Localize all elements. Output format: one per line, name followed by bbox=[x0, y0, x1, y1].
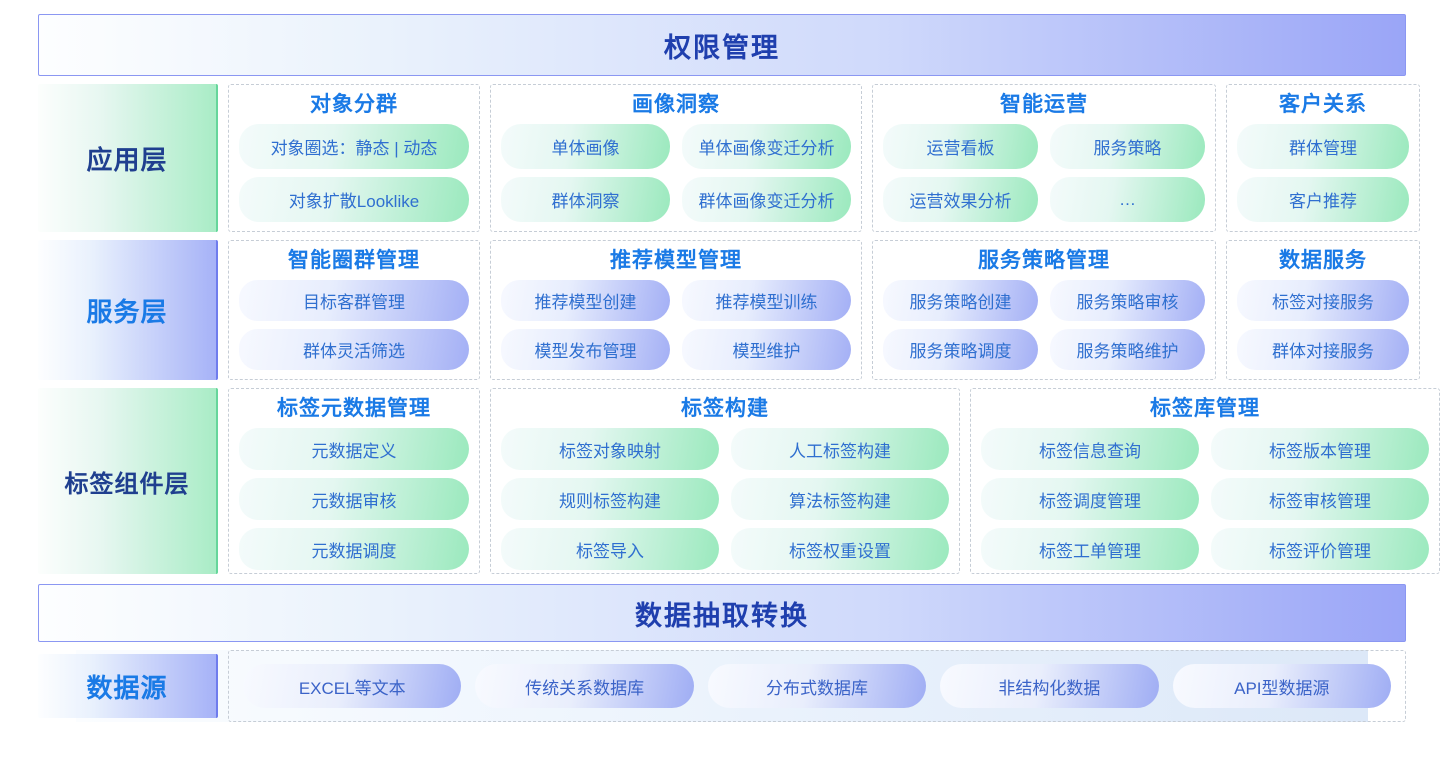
group-data-service: 数据服务 标签对接服务 群体对接服务 bbox=[1226, 240, 1420, 380]
group-portrait-insight: 画像洞察 单体画像 单体画像变迁分析 群体洞察 群体画像变迁分析 bbox=[490, 84, 862, 232]
group-tag-library-management: 标签库管理 标签信息查询 标签版本管理 标签调度管理 标签审核管理 标签工单管理… bbox=[970, 388, 1440, 574]
group-title: 智能圈群管理 bbox=[239, 247, 469, 275]
layer-row-application: 应用层 对象分群 对象圈选：静态 | 动态 对象扩散Looklike 画像洞察 … bbox=[38, 84, 1406, 232]
pill-item[interactable]: 标签工单管理 bbox=[981, 528, 1199, 570]
datasource-item[interactable]: EXCEL等文本 bbox=[243, 664, 461, 708]
pill-grid: 服务策略创建 服务策略审核 服务策略调度 服务策略维护 bbox=[883, 280, 1205, 370]
pill-grid: 对象圈选：静态 | 动态 对象扩散Looklike bbox=[239, 124, 469, 222]
pill-grid: 标签对接服务 群体对接服务 bbox=[1237, 280, 1409, 370]
pill-item[interactable]: 元数据调度 bbox=[239, 528, 469, 570]
architecture-diagram: 权限管理 应用层 对象分群 对象圈选：静态 | 动态 对象扩散Looklike … bbox=[0, 0, 1444, 766]
pill-item[interactable]: 模型发布管理 bbox=[501, 329, 670, 370]
pill-grid: 标签对象映射 人工标签构建 规则标签构建 算法标签构建 标签导入 标签权重设置 bbox=[501, 428, 949, 570]
group-title: 智能运营 bbox=[883, 91, 1205, 119]
group-title: 标签构建 bbox=[501, 395, 949, 423]
group-tag-construction: 标签构建 标签对象映射 人工标签构建 规则标签构建 算法标签构建 标签导入 标签… bbox=[490, 388, 960, 574]
datasource-item[interactable]: API型数据源 bbox=[1173, 664, 1391, 708]
pill-item[interactable]: 推荐模型训练 bbox=[682, 280, 851, 321]
pill-item[interactable]: 对象圈选：静态 | 动态 bbox=[239, 124, 469, 169]
layer-groups-application: 对象分群 对象圈选：静态 | 动态 对象扩散Looklike 画像洞察 单体画像… bbox=[228, 84, 1420, 232]
group-title: 服务策略管理 bbox=[883, 247, 1205, 275]
datasource-item[interactable]: 非结构化数据 bbox=[940, 664, 1158, 708]
pill-item[interactable]: 元数据审核 bbox=[239, 478, 469, 520]
pill-item[interactable]: 服务策略创建 bbox=[883, 280, 1038, 321]
pill-grid: 运营看板 服务策略 运营效果分析 … bbox=[883, 124, 1205, 222]
banner-middle-label: 数据抽取转换 bbox=[635, 594, 809, 633]
pill-item[interactable]: 服务策略维护 bbox=[1050, 329, 1205, 370]
pill-item[interactable]: 服务策略 bbox=[1050, 124, 1205, 169]
pill-grid: 单体画像 单体画像变迁分析 群体洞察 群体画像变迁分析 bbox=[501, 124, 851, 222]
pill-grid: 元数据定义 元数据审核 元数据调度 bbox=[239, 428, 469, 570]
pill-item[interactable]: 标签审核管理 bbox=[1211, 478, 1429, 520]
pill-item[interactable]: 标签权重设置 bbox=[731, 528, 949, 570]
pill-item[interactable]: 元数据定义 bbox=[239, 428, 469, 470]
group-customer-relationship: 客户关系 群体管理 客户推荐 bbox=[1226, 84, 1420, 232]
group-title: 标签元数据管理 bbox=[239, 395, 469, 423]
layer-row-datasource: 数据源 EXCEL等文本 传统关系数据库 分布式数据库 非结构化数据 API型数… bbox=[38, 650, 1406, 722]
pill-item[interactable]: 标签版本管理 bbox=[1211, 428, 1429, 470]
pill-item-more[interactable]: … bbox=[1050, 177, 1205, 222]
pill-grid: 群体管理 客户推荐 bbox=[1237, 124, 1409, 222]
group-title: 客户关系 bbox=[1237, 91, 1409, 119]
banner-permission-management: 权限管理 bbox=[38, 14, 1406, 76]
pill-item[interactable]: 标签信息查询 bbox=[981, 428, 1199, 470]
pill-item[interactable]: 群体对接服务 bbox=[1237, 329, 1409, 370]
layer-row-service: 服务层 智能圈群管理 目标客群管理 群体灵活筛选 推荐模型管理 推荐模型创建 推… bbox=[38, 240, 1406, 380]
group-smart-group-management: 智能圈群管理 目标客群管理 群体灵活筛选 bbox=[228, 240, 480, 380]
group-object-segmentation: 对象分群 对象圈选：静态 | 动态 对象扩散Looklike bbox=[228, 84, 480, 232]
pill-item[interactable]: 群体画像变迁分析 bbox=[682, 177, 851, 222]
pill-item[interactable]: 群体管理 bbox=[1237, 124, 1409, 169]
pill-item[interactable]: 服务策略审核 bbox=[1050, 280, 1205, 321]
group-intelligent-operation: 智能运营 运营看板 服务策略 运营效果分析 … bbox=[872, 84, 1216, 232]
group-title: 对象分群 bbox=[239, 91, 469, 119]
pill-item[interactable]: 规则标签构建 bbox=[501, 478, 719, 520]
group-tag-metadata-management: 标签元数据管理 元数据定义 元数据审核 元数据调度 bbox=[228, 388, 480, 574]
pill-item[interactable]: 群体洞察 bbox=[501, 177, 670, 222]
layer-row-tag-component: 标签组件层 标签元数据管理 元数据定义 元数据审核 元数据调度 标签构建 标签对… bbox=[38, 388, 1406, 574]
pill-item[interactable]: 标签调度管理 bbox=[981, 478, 1199, 520]
pill-item[interactable]: 标签对接服务 bbox=[1237, 280, 1409, 321]
group-recommendation-model-management: 推荐模型管理 推荐模型创建 推荐模型训练 模型发布管理 模型维护 bbox=[490, 240, 862, 380]
layer-groups-tag-component: 标签元数据管理 元数据定义 元数据审核 元数据调度 标签构建 标签对象映射 人工… bbox=[228, 388, 1440, 574]
pill-item[interactable]: 客户推荐 bbox=[1237, 177, 1409, 222]
group-service-strategy-management: 服务策略管理 服务策略创建 服务策略审核 服务策略调度 服务策略维护 bbox=[872, 240, 1216, 380]
pill-item[interactable]: 算法标签构建 bbox=[731, 478, 949, 520]
group-title: 推荐模型管理 bbox=[501, 247, 851, 275]
layer-label-service-text: 服务层 bbox=[86, 292, 167, 329]
pill-item[interactable]: 目标客群管理 bbox=[239, 280, 469, 321]
banner-top-label: 权限管理 bbox=[664, 26, 780, 65]
pill-item[interactable]: 对象扩散Looklike bbox=[239, 177, 469, 222]
pill-item[interactable]: 运营效果分析 bbox=[883, 177, 1038, 222]
pill-item[interactable]: 运营看板 bbox=[883, 124, 1038, 169]
pill-item[interactable]: 群体灵活筛选 bbox=[239, 329, 469, 370]
pill-item[interactable]: 标签导入 bbox=[501, 528, 719, 570]
pill-item[interactable]: 单体画像 bbox=[501, 124, 670, 169]
pill-item[interactable]: 服务策略调度 bbox=[883, 329, 1038, 370]
pill-item[interactable]: 模型维护 bbox=[682, 329, 851, 370]
pill-grid: 推荐模型创建 推荐模型训练 模型发布管理 模型维护 bbox=[501, 280, 851, 370]
layer-label-service: 服务层 bbox=[38, 240, 218, 380]
pill-item[interactable]: 标签对象映射 bbox=[501, 428, 719, 470]
pill-grid: 目标客群管理 群体灵活筛选 bbox=[239, 280, 469, 370]
group-title: 画像洞察 bbox=[501, 91, 851, 119]
layer-label-tag-component-text: 标签组件层 bbox=[65, 464, 190, 499]
layer-label-datasource: 数据源 bbox=[38, 654, 218, 718]
pill-item[interactable]: 标签评价管理 bbox=[1211, 528, 1429, 570]
banner-data-extraction-transformation: 数据抽取转换 bbox=[38, 584, 1406, 642]
datasource-item[interactable]: 分布式数据库 bbox=[708, 664, 926, 708]
layer-label-tag-component: 标签组件层 bbox=[38, 388, 218, 574]
pill-grid: 标签信息查询 标签版本管理 标签调度管理 标签审核管理 标签工单管理 标签评价管… bbox=[981, 428, 1429, 570]
pill-item[interactable]: 人工标签构建 bbox=[731, 428, 949, 470]
group-title: 数据服务 bbox=[1237, 247, 1409, 275]
datasource-item[interactable]: 传统关系数据库 bbox=[475, 664, 693, 708]
layer-groups-service: 智能圈群管理 目标客群管理 群体灵活筛选 推荐模型管理 推荐模型创建 推荐模型训… bbox=[228, 240, 1420, 380]
group-title: 标签库管理 bbox=[981, 395, 1429, 423]
pill-item[interactable]: 单体画像变迁分析 bbox=[682, 124, 851, 169]
layer-label-application-text: 应用层 bbox=[86, 140, 167, 177]
layer-label-application: 应用层 bbox=[38, 84, 218, 232]
datasource-group: EXCEL等文本 传统关系数据库 分布式数据库 非结构化数据 API型数据源 bbox=[228, 650, 1406, 722]
pill-item[interactable]: 推荐模型创建 bbox=[501, 280, 670, 321]
layer-label-datasource-text: 数据源 bbox=[86, 668, 167, 705]
